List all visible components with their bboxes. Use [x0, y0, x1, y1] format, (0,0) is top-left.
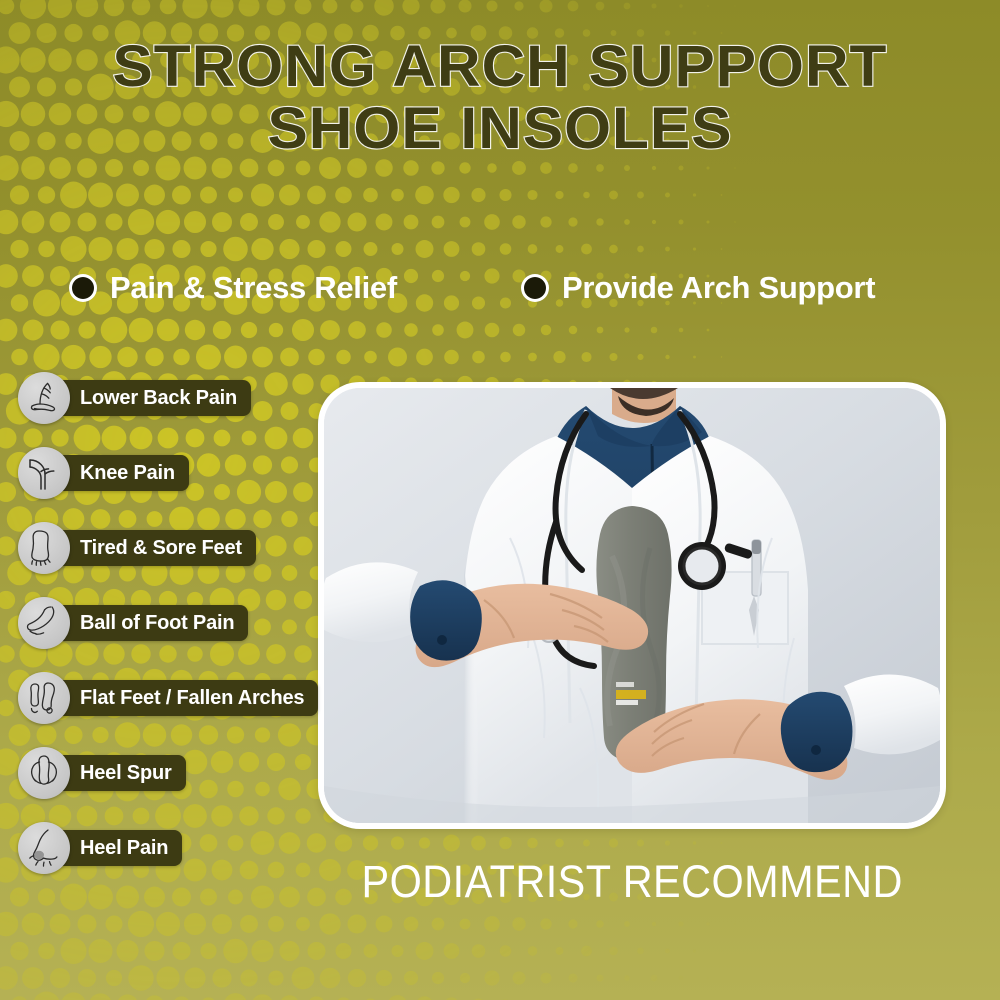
feature-pill: Lower Back Pain	[54, 380, 251, 416]
product-photo-card	[318, 382, 946, 829]
feature-label: Lower Back Pain	[80, 387, 237, 410]
flat-feet-icon	[18, 672, 70, 724]
feature-pill: Knee Pain	[54, 455, 189, 491]
benefit-headings: Pain & Stress Relief Provide Arch Suppor…	[0, 270, 1000, 316]
feature-row: Flat Feet / Fallen Arches	[18, 672, 318, 724]
condition-feature-list: Lower Back Pain Knee Pain	[18, 372, 318, 897]
heel-pain-icon	[18, 822, 70, 874]
feature-label: Heel Spur	[80, 762, 172, 785]
filled-circle-bullet-icon	[524, 277, 546, 299]
title-line-1: STRONG ARCH SUPPORT	[0, 36, 1000, 98]
feature-row: Knee Pain	[18, 447, 318, 499]
ball-of-foot-pain-icon	[18, 597, 70, 649]
poster-title: STRONG ARCH SUPPORT SHOE INSOLES	[0, 36, 1000, 160]
knee-pain-icon	[18, 447, 70, 499]
lower-back-pain-icon	[18, 372, 70, 424]
feature-label: Tired & Sore Feet	[80, 537, 242, 560]
benefit-label: Pain & Stress Relief	[110, 270, 397, 306]
heel-spur-icon	[18, 747, 70, 799]
footer-tagline: PODIATRIST RECOMMEND	[318, 856, 946, 908]
feature-label: Knee Pain	[80, 462, 175, 485]
feature-row: Tired & Sore Feet	[18, 522, 318, 574]
tired-sore-feet-icon	[18, 522, 70, 574]
title-line-2: SHOE INSOLES	[0, 98, 1000, 160]
feature-label: Heel Pain	[80, 837, 168, 860]
product-infographic-poster: STRONG ARCH SUPPORT SHOE INSOLES Pain & …	[0, 0, 1000, 1000]
feature-row: Ball of Foot Pain	[18, 597, 318, 649]
feature-row: Heel Spur	[18, 747, 318, 799]
benefit-item-pain-stress-relief: Pain & Stress Relief	[72, 270, 397, 306]
benefit-item-provide-arch-support: Provide Arch Support	[524, 270, 875, 306]
footer-text: PODIATRIST RECOMMEND	[361, 856, 902, 908]
filled-circle-bullet-icon	[72, 277, 94, 299]
feature-pill: Tired & Sore Feet	[54, 530, 256, 566]
feature-pill: Heel Pain	[54, 830, 182, 866]
feature-row: Heel Pain	[18, 822, 318, 874]
doctor-insole-photo	[324, 388, 940, 823]
feature-pill: Heel Spur	[54, 755, 186, 791]
feature-pill: Ball of Foot Pain	[54, 605, 248, 641]
feature-row: Lower Back Pain	[18, 372, 318, 424]
feature-pill: Flat Feet / Fallen Arches	[54, 680, 318, 716]
feature-label: Flat Feet / Fallen Arches	[80, 687, 304, 710]
feature-label: Ball of Foot Pain	[80, 612, 234, 635]
benefit-label: Provide Arch Support	[562, 270, 875, 306]
